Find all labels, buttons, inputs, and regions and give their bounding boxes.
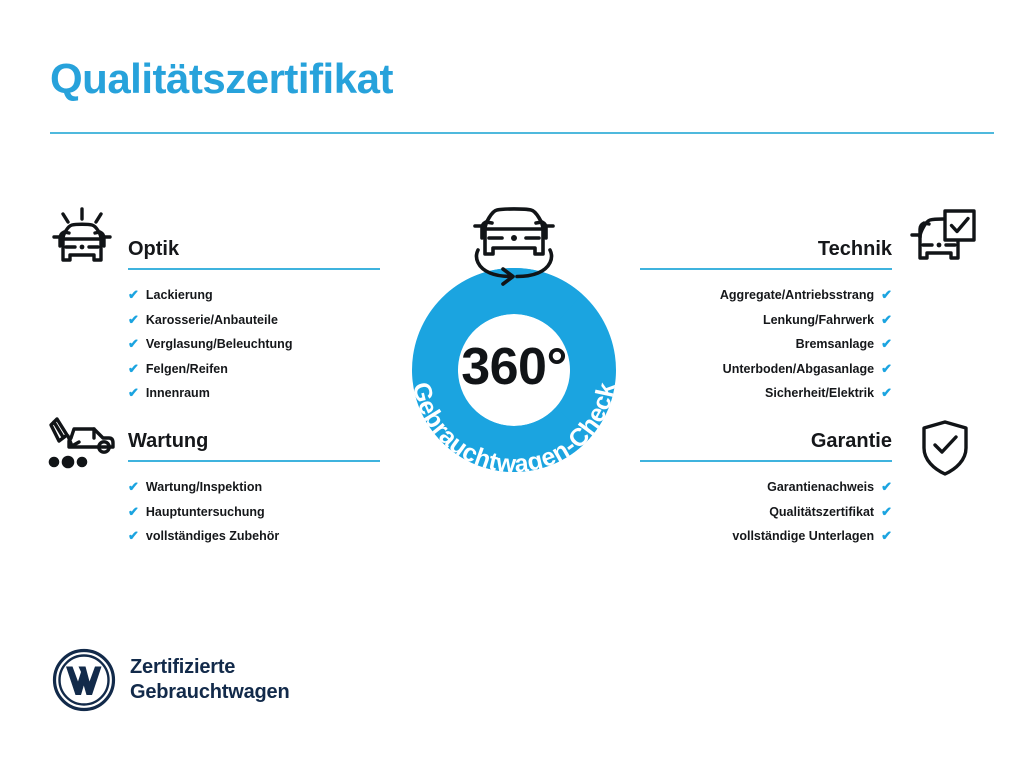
check-icon: ✔	[881, 529, 892, 542]
list-item-label: vollständige Unterlagen	[732, 530, 874, 543]
list-item: ✔ vollständiges Zubehör	[128, 529, 380, 543]
list-item: ✔ Hauptuntersuchung	[128, 505, 380, 519]
check-icon: ✔	[128, 529, 139, 542]
car-checkbox-icon	[908, 208, 978, 275]
footer-brand-text: Zertifizierte Gebrauchtwagen	[130, 655, 289, 705]
list-item-label: Aggregate/Antriebsstrang	[720, 289, 874, 302]
check-icon: ✔	[128, 362, 139, 375]
section-optik: Optik ✔ Lackierung ✔ Karosserie/Anbautei…	[128, 238, 380, 411]
section-heading-technik: Technik	[640, 238, 892, 268]
list-item: ✔ Karosserie/Anbauteile	[128, 313, 380, 327]
check-icon: ✔	[881, 505, 892, 518]
footer-line-2: Gebrauchtwagen	[130, 680, 289, 705]
volkswagen-logo-icon	[52, 648, 116, 712]
check-icon: ✔	[128, 505, 139, 518]
list-item-label: vollständiges Zubehör	[146, 530, 279, 543]
footer-brand: Zertifizierte Gebrauchtwagen	[52, 648, 289, 712]
list-item: Aggregate/Antriebsstrang ✔	[640, 288, 892, 302]
list-item: Sicherheit/Elektrik ✔	[640, 386, 892, 400]
check-icon: ✔	[128, 313, 139, 326]
list-item-label: Lackierung	[146, 289, 213, 302]
header-divider	[50, 132, 994, 134]
list-item-label: Sicherheit/Elektrik	[765, 387, 874, 400]
list-item-label: Innenraum	[146, 387, 210, 400]
360-check-badge: Gebrauchtwagen-Check 360°	[372, 192, 656, 492]
section-items-optik: ✔ Lackierung ✔ Karosserie/Anbauteile ✔ V…	[128, 288, 380, 400]
list-item-label: Qualitätszertifikat	[769, 506, 874, 519]
degree-label: 360°	[372, 337, 656, 397]
section-heading-garantie: Garantie	[640, 430, 892, 460]
list-item: ✔ Verglasung/Beleuchtung	[128, 337, 380, 351]
section-items-garantie: Garantienachweis ✔ Qualitätszertifikat ✔…	[640, 480, 892, 543]
list-item-label: Unterboden/Abgasanlage	[723, 363, 874, 376]
section-divider-optik	[128, 268, 380, 270]
shield-check-icon	[918, 418, 972, 483]
pen-car-checklist-icon	[46, 416, 118, 477]
list-item-label: Garantienachweis	[767, 481, 874, 494]
list-item-label: Wartung/Inspektion	[146, 481, 262, 494]
section-technik: Technik Aggregate/Antriebsstrang ✔ Lenku…	[640, 238, 892, 411]
list-item: Unterboden/Abgasanlage ✔	[640, 362, 892, 376]
list-item: Lenkung/Fahrwerk ✔	[640, 313, 892, 327]
list-item-label: Lenkung/Fahrwerk	[763, 314, 874, 327]
list-item-label: Felgen/Reifen	[146, 363, 228, 376]
list-item: ✔ Innenraum	[128, 386, 380, 400]
section-items-wartung: ✔ Wartung/Inspektion ✔ Hauptuntersuchung…	[128, 480, 380, 543]
check-icon: ✔	[881, 337, 892, 350]
check-icon: ✔	[881, 288, 892, 301]
check-icon: ✔	[881, 313, 892, 326]
section-divider-wartung	[128, 460, 380, 462]
check-icon: ✔	[128, 288, 139, 301]
list-item-label: Hauptuntersuchung	[146, 506, 265, 519]
list-item: ✔ Lackierung	[128, 288, 380, 302]
list-item: Qualitätszertifikat ✔	[640, 505, 892, 519]
list-item: Bremsanlage ✔	[640, 337, 892, 351]
list-item: Garantienachweis ✔	[640, 480, 892, 494]
section-divider-technik	[640, 268, 892, 270]
certificate-page: Qualitätszertifikat Optik ✔ Lackierung	[0, 0, 1024, 768]
check-icon: ✔	[881, 480, 892, 493]
check-icon: ✔	[881, 362, 892, 375]
list-item: ✔ Wartung/Inspektion	[128, 480, 380, 494]
footer-line-1: Zertifizierte	[130, 655, 289, 680]
section-heading-wartung: Wartung	[128, 430, 380, 460]
list-item-label: Bremsanlage	[796, 338, 875, 351]
page-title: Qualitätszertifikat	[50, 55, 393, 103]
check-icon: ✔	[128, 386, 139, 399]
section-wartung: Wartung ✔ Wartung/Inspektion ✔ Hauptunte…	[128, 430, 380, 554]
list-item-label: Verglasung/Beleuchtung	[146, 338, 293, 351]
section-heading-optik: Optik	[128, 238, 380, 268]
check-icon: ✔	[881, 386, 892, 399]
section-divider-garantie	[640, 460, 892, 462]
check-icon: ✔	[128, 480, 139, 493]
list-item: vollständige Unterlagen ✔	[640, 529, 892, 543]
list-item: ✔ Felgen/Reifen	[128, 362, 380, 376]
car-rotate-360-icon	[456, 192, 572, 297]
list-item-label: Karosserie/Anbauteile	[146, 314, 278, 327]
check-icon: ✔	[128, 337, 139, 350]
section-garantie: Garantie Garantienachweis ✔ Qualitätszer…	[640, 430, 892, 554]
section-items-technik: Aggregate/Antriebsstrang ✔ Lenkung/Fahrw…	[640, 288, 892, 400]
car-shine-icon	[46, 206, 118, 275]
